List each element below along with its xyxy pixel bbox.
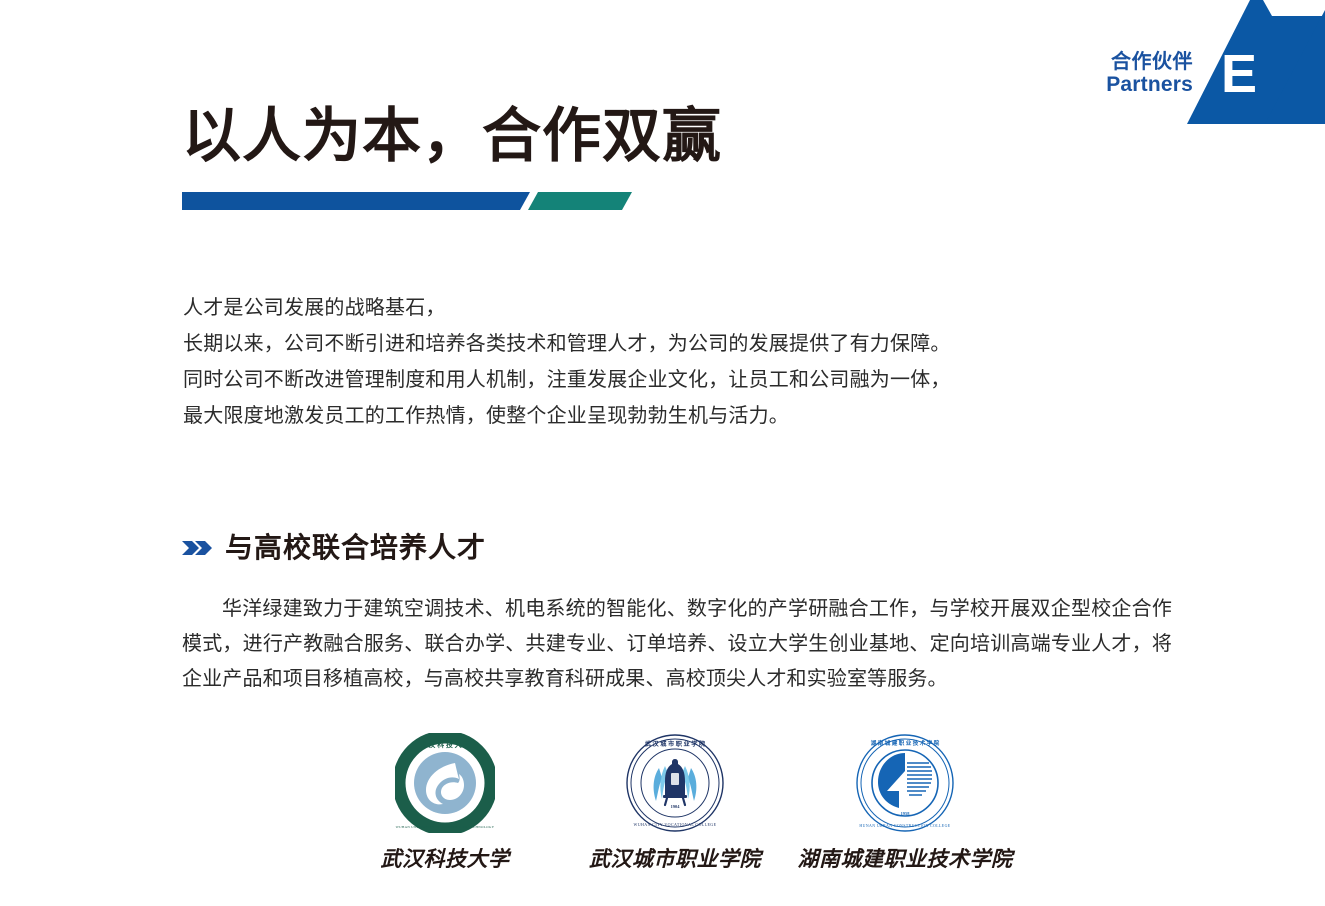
section-heading-text: 与高校联合培养人才 [225,534,486,562]
partner-year: 1958 [901,811,911,816]
partner-logo-row: 武 汉 科 技 大 学 WUHAN UNIVERSITY OF SCIENCE … [330,733,1020,873]
intro-line: 长期以来，公司不断引进和培养各类技术和管理人才，为公司的发展提供了有力保障。 [183,326,1183,362]
partner-year: 1904 [671,804,681,809]
intro-line: 人才是公司发展的战略基石， [183,290,1183,326]
wuhan-city-vocational-college-logo: 武 汉 城 市 职 业 学 院 1904 WUHAN CITY VOCATION… [625,733,725,833]
svg-text:WUHAN CITY VOCATIONAL COLLEGE: WUHAN CITY VOCATIONAL COLLEGE [634,822,717,827]
partners-label-cn: 合作伙伴 [1106,52,1193,74]
title-underline-rule [182,192,632,210]
partner-item: 武 汉 城 市 职 业 学 院 1904 WUHAN CITY VOCATION… [560,733,790,873]
partner-item: 湖 南 城 建 职 业 技 术 学 院 1958 HUNAN URBAN CON… [790,733,1020,873]
intro-paragraph: 人才是公司发展的战略基石， 长期以来，公司不断引进和培养各类技术和管理人才，为公… [183,290,1183,434]
intro-line: 最大限度地激发员工的工作热情，使整个企业呈现勃勃生机与活力。 [183,398,1183,434]
svg-text:武 汉 城 市 职 业 学 院: 武 汉 城 市 职 业 学 院 [645,740,706,748]
svg-text:HUNAN URBAN CONSTRUCTION COLLE: HUNAN URBAN CONSTRUCTION COLLEGE [859,824,950,828]
partner-name: 武汉科技大学 [381,843,510,873]
page-title: 以人为本，合作双赢 [182,104,722,169]
partner-name: 武汉城市职业学院 [589,843,761,873]
hunan-urban-construction-college-logo: 湖 南 城 建 职 业 技 术 学 院 1958 HUNAN URBAN CON… [855,733,955,833]
intro-line: 同时公司不断改进管理制度和用人机制，注重发展企业文化，让员工和公司融为一体， [183,362,1183,398]
section-body-paragraph: 华洋绿建致力于建筑空调技术、机电系统的智能化、数字化的产学研融合工作，与学校开展… [182,592,1172,697]
section-letter-badge: E [1216,47,1262,101]
partner-name: 湖南城建职业技术学院 [798,843,1013,873]
double-chevron-right-icon [182,538,212,558]
slide-canvas: 合作伙伴 Partners E 以人为本，合作双赢 人才是公司发展的战略基石， … [0,0,1325,906]
svg-text:湖 南 城 建 职 业 技 术 学 院: 湖 南 城 建 职 业 技 术 学 院 [871,739,940,747]
partners-label: 合作伙伴 Partners [1106,52,1193,96]
svg-text:武 汉 科 技 大 学: 武 汉 科 技 大 学 [420,740,471,749]
wuhan-university-science-technology-logo: 武 汉 科 技 大 学 WUHAN UNIVERSITY OF SCIENCE … [395,733,495,833]
partner-item: 武 汉 科 技 大 学 WUHAN UNIVERSITY OF SCIENCE … [330,733,560,873]
partners-label-en: Partners [1106,74,1193,97]
corner-banner [1065,0,1325,124]
svg-text:WUHAN UNIVERSITY OF SCIENCE AN: WUHAN UNIVERSITY OF SCIENCE AND TECHNOLO… [396,825,495,829]
section-heading: 与高校联合培养人才 [182,534,486,562]
